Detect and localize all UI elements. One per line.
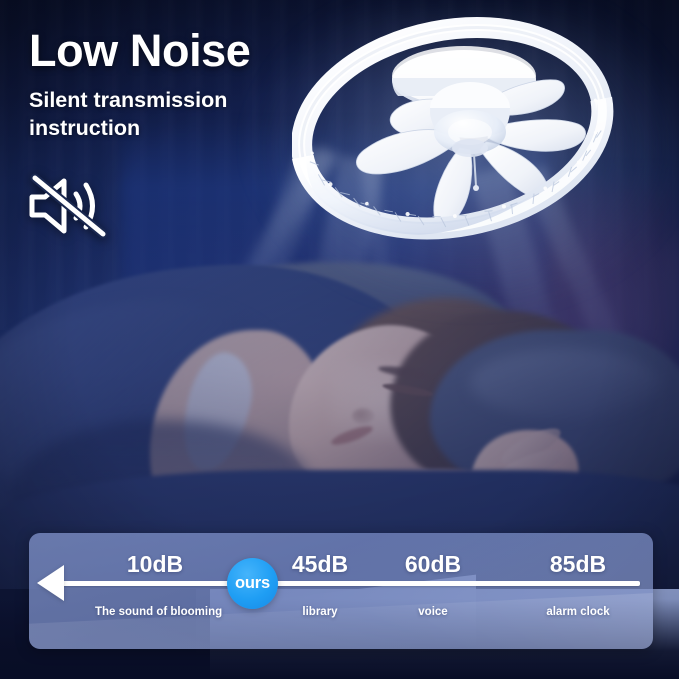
page-title: Low Noise [29,28,279,73]
ceiling-fan-light-product [292,8,622,248]
left-arrow-icon [37,565,64,601]
ours-badge-label: ours [235,574,270,593]
noise-scale-axis [58,581,640,586]
mute-speaker-icon [26,172,108,245]
pillow-highlight [470,348,660,418]
product-infographic: Low Noise Silent transmission instructio… [0,0,679,679]
page-subtitle: Silent transmission instruction [29,87,279,142]
nose [352,408,374,424]
panel-sheen [29,593,653,649]
heading-block: Low Noise Silent transmission instructio… [29,28,279,142]
ours-badge: ours [227,558,278,609]
noise-scale-panel [29,533,653,649]
